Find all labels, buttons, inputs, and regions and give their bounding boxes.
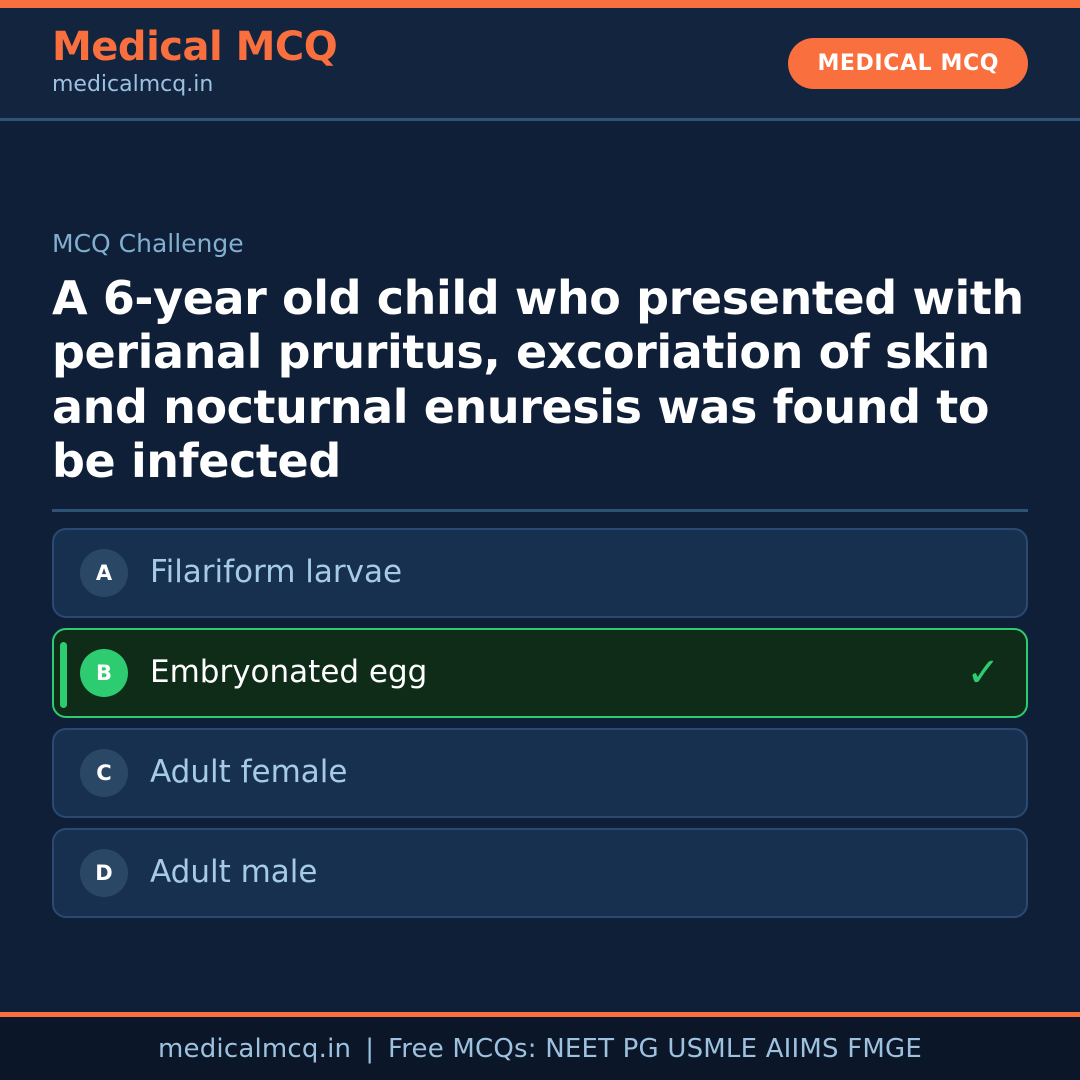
option-b[interactable]: B Embryonated egg ✓ xyxy=(52,628,1028,718)
option-label: Embryonated egg xyxy=(150,654,427,691)
option-letter-badge: C xyxy=(80,749,128,797)
option-letter-badge: A xyxy=(80,549,128,597)
option-label: Adult male xyxy=(150,854,318,891)
header: Medical MCQ medicalmcq.in MEDICAL MCQ xyxy=(0,8,1080,121)
options-list: A Filariform larvae B Embryonated egg ✓ … xyxy=(52,528,1028,918)
question-text: A 6-year old child who presented with pe… xyxy=(52,271,1028,488)
brand-block: Medical MCQ medicalmcq.in xyxy=(52,26,337,100)
option-label: Adult female xyxy=(150,754,347,791)
correct-accent-bar xyxy=(60,642,67,708)
option-a[interactable]: A Filariform larvae xyxy=(52,528,1028,618)
option-d[interactable]: D Adult male xyxy=(52,828,1028,918)
top-accent-rule xyxy=(0,0,1080,8)
eyebrow-label: MCQ Challenge xyxy=(52,229,1028,259)
option-label: Filariform larvae xyxy=(150,554,402,591)
option-c[interactable]: C Adult female xyxy=(52,728,1028,818)
brand-title: Medical MCQ xyxy=(52,26,337,68)
option-letter-badge: B xyxy=(80,649,128,697)
question-divider xyxy=(52,509,1028,512)
mcq-card: Medical MCQ medicalmcq.in MEDICAL MCQ MC… xyxy=(0,0,1080,1080)
option-letter-badge: D xyxy=(80,849,128,897)
footer: medicalmcq.in | Free MCQs: NEET PG USMLE… xyxy=(0,1012,1080,1080)
check-icon: ✓ xyxy=(966,653,1000,693)
brand-url: medicalmcq.in xyxy=(52,71,337,100)
footer-separator: | xyxy=(351,1034,388,1064)
footer-site: medicalmcq.in xyxy=(158,1034,351,1064)
main-content: MCQ Challenge A 6-year old child who pre… xyxy=(0,121,1080,1012)
footer-exams: Free MCQs: NEET PG USMLE AIIMS FMGE xyxy=(388,1034,922,1064)
brand-pill-badge: MEDICAL MCQ xyxy=(788,38,1028,89)
